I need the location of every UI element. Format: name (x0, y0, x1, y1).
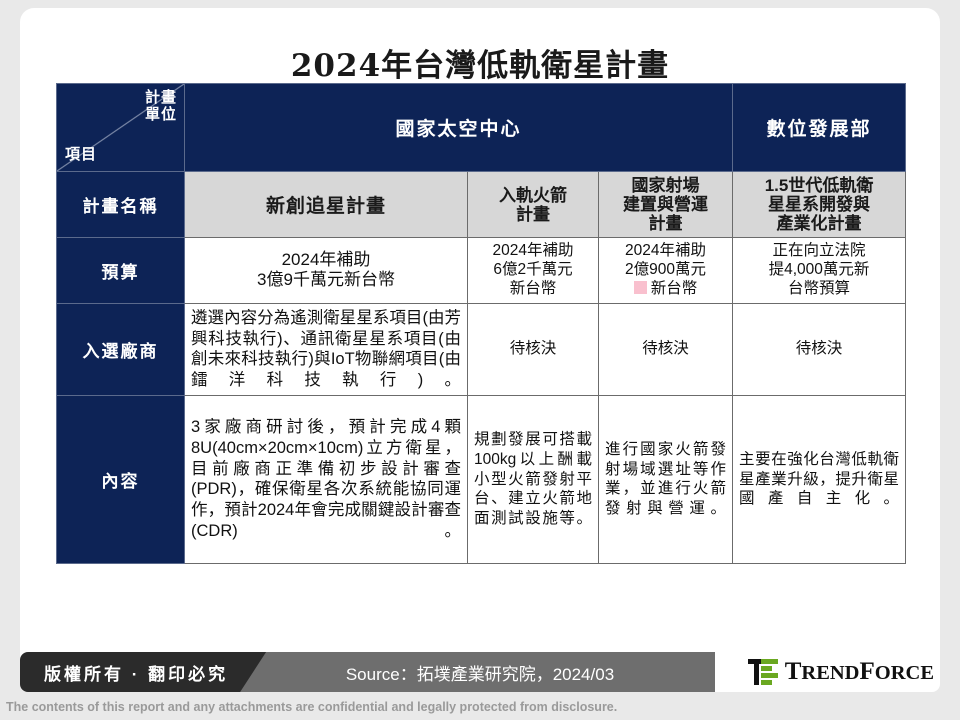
cell-plan-name-1: 新創追星計畫 (185, 172, 468, 238)
cell-content-4: 主要在強化台灣低軌衛星產業升級，提升衛星國產自主化。 (733, 395, 906, 563)
confidentiality-disclaimer: The contents of this report and any atta… (6, 700, 956, 714)
org-header-moda: 數位發展部 (733, 84, 906, 172)
slide-canvas: 拓墣 TRENDFORCE RESEARCH INSTITUTE 2024年台灣… (20, 8, 940, 692)
cell-plan-name-2: 入軌火箭計畫 (468, 172, 599, 238)
table-row-content: 內容 3家廠商研討後，預計完成4顆 8U(40cm×20cm×10cm)立方衛星… (57, 395, 906, 563)
cell-vendors-3: 待核決 (599, 303, 733, 395)
cell-vendors-1: 遴選內容分為遙測衛星星系項目(由芳興科技執行)、通訊衛星星系項目(由創未來科技執… (185, 303, 468, 395)
row-label-budget: 預算 (57, 238, 185, 304)
cell-plan-name-3: 國家射場建置與營運計畫 (599, 172, 733, 238)
corner-unit-label: 計畫單位 (145, 90, 177, 124)
trendforce-wordmark: TRENDFORCE (785, 658, 934, 686)
cell-content-1: 3家廠商研討後，預計完成4顆 8U(40cm×20cm×10cm)立方衛星，目前… (185, 395, 468, 563)
source-band: Source：拓墣產業研究院，2024/03 (190, 652, 770, 692)
cell-budget-1: 2024年補助3億9千萬元新台幣 (185, 238, 468, 304)
row-label-plan-name: 計畫名稱 (57, 172, 185, 238)
table-header-row: 計畫單位 項目 國家太空中心 數位發展部 (57, 84, 906, 172)
plan-table: 計畫單位 項目 國家太空中心 數位發展部 計畫名稱 新創追星計畫 入軌火箭計畫 … (56, 83, 906, 564)
corner-axis-cell: 計畫單位 項目 (57, 84, 185, 172)
page-title: 2024年台灣低軌衛星計畫 (20, 40, 940, 85)
cell-vendors-4: 待核決 (733, 303, 906, 395)
table-row-plan-name: 計畫名稱 新創追星計畫 入軌火箭計畫 國家射場建置與營運計畫 1.5世代低軌衛星… (57, 172, 906, 238)
org-header-nspo: 國家太空中心 (185, 84, 733, 172)
footer-bar: 版權所有 · 翻印必究 Source：拓墣產業研究院，2024/03 TREND… (0, 652, 960, 692)
table-row-selected-vendors: 入選廠商 遴選內容分為遙測衛星星系項目(由芳興科技執行)、通訊衛星星系項目(由創… (57, 303, 906, 395)
cell-vendors-2: 待核決 (468, 303, 599, 395)
cell-content-3: 進行國家火箭發射場域選址等作業，並進行火箭發射與營運。 (599, 395, 733, 563)
trendforce-logo: TRENDFORCE (715, 652, 940, 692)
corner-item-label: 項目 (65, 143, 97, 164)
pink-marker-square (634, 281, 647, 294)
plan-table-wrapper: 計畫單位 項目 國家太空中心 數位發展部 計畫名稱 新創追星計畫 入軌火箭計畫 … (56, 83, 905, 564)
cell-budget-4: 正在向立法院提4,000萬元新台幣預算 (733, 238, 906, 304)
row-label-content: 內容 (57, 395, 185, 563)
cell-plan-name-4: 1.5世代低軌衛星星系開發與產業化計畫 (733, 172, 906, 238)
copyright-tab: 版權所有 · 翻印必究 (20, 652, 266, 692)
row-label-selected-vendors: 入選廠商 (57, 303, 185, 395)
cell-content-2: 規劃發展可搭載100kg以上酬載小型火箭發射平台、建立火箭地面測試設施等。 (468, 395, 599, 563)
cell-budget-2: 2024年補助6億2千萬元新台幣 (468, 238, 599, 304)
trendforce-mark-icon (748, 659, 778, 685)
cell-budget-3: 2024年補助2億900萬元新台幣 (599, 238, 733, 304)
table-row-budget: 預算 2024年補助3億9千萬元新台幣 2024年補助6億2千萬元新台幣 202… (57, 238, 906, 304)
